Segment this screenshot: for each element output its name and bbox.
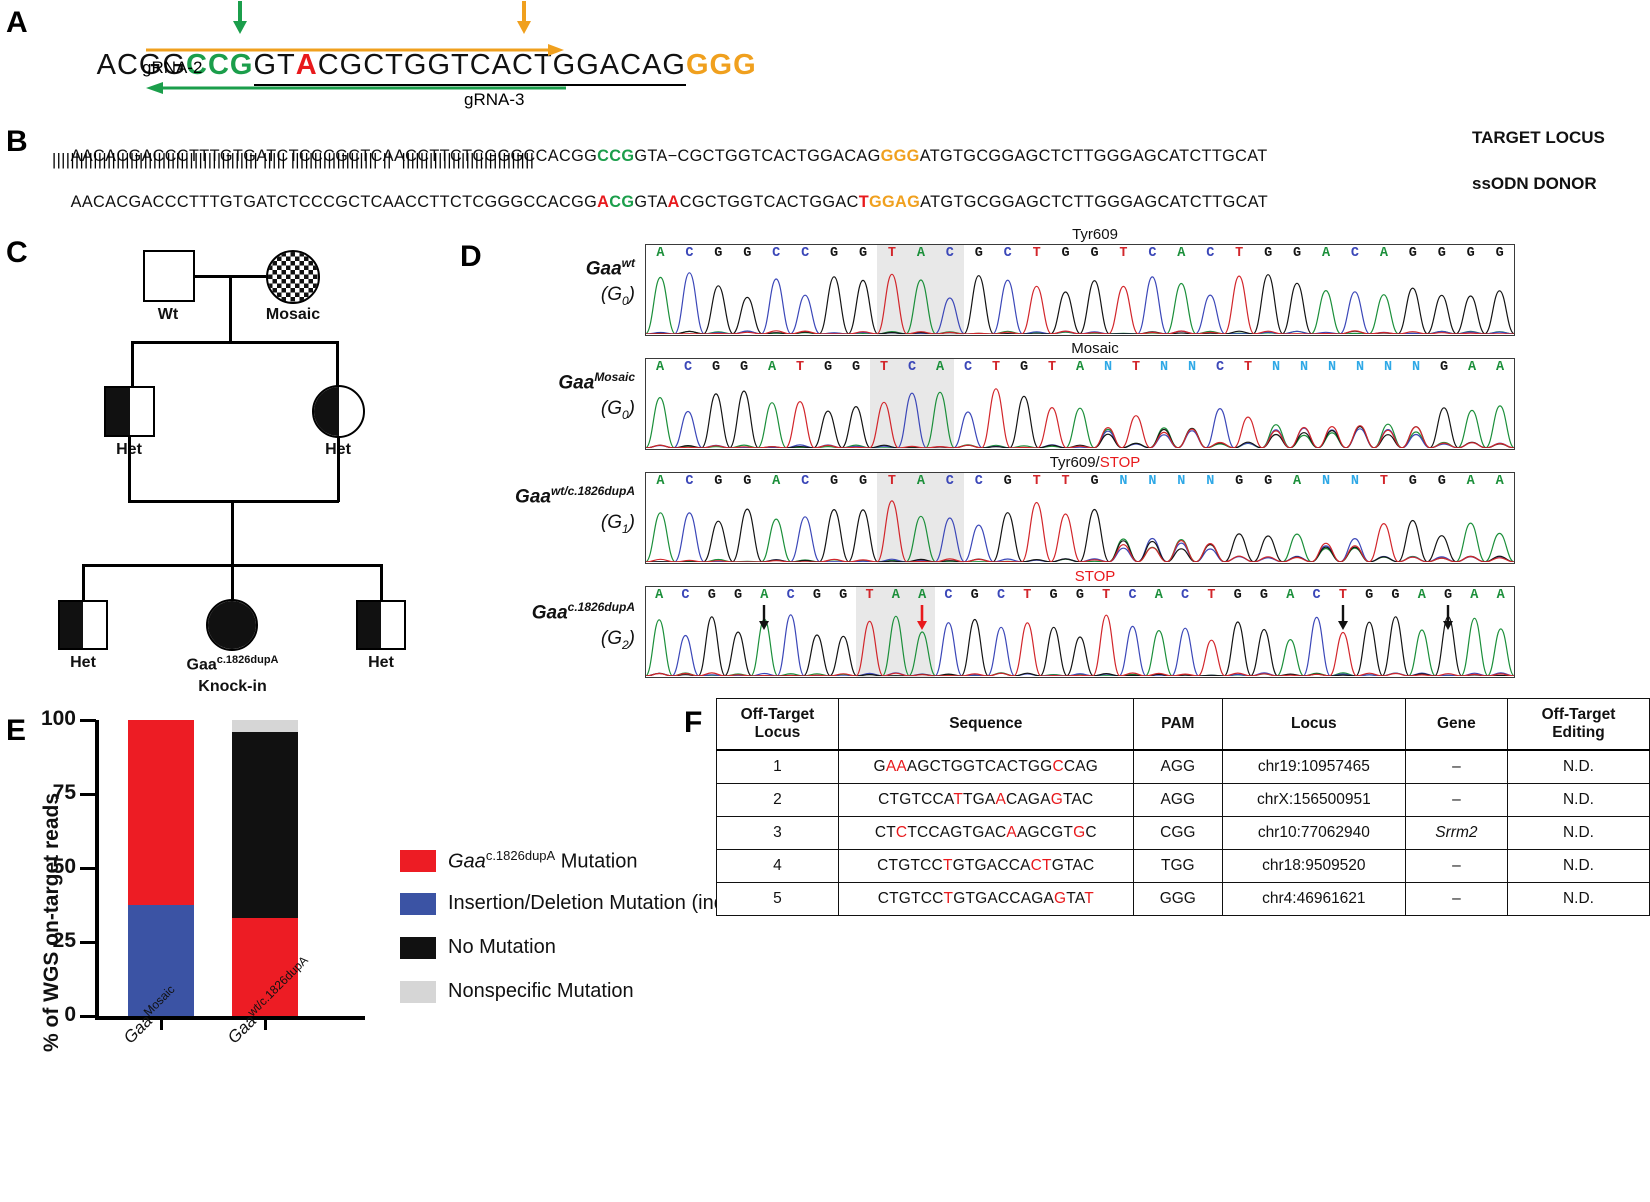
base-call-c: C xyxy=(672,588,698,605)
base-call-c: C xyxy=(1119,588,1145,605)
full-fill xyxy=(208,601,256,649)
cell-pam: GGG xyxy=(1133,882,1222,915)
base-call-c: C xyxy=(964,474,993,491)
stop-codon-arrow-red-icon xyxy=(916,605,928,631)
y-tick-label: 50 xyxy=(0,855,76,879)
sequence-mismatch: A xyxy=(1006,824,1017,841)
base-call-g: G xyxy=(1283,246,1312,263)
legend-swatch xyxy=(400,893,436,915)
header-line: PAM xyxy=(1140,715,1216,733)
base-call-n: N xyxy=(1402,360,1430,377)
chromatogram-label-gaa-mosaic: GaaMosaic xyxy=(460,370,635,394)
base-call-g: G xyxy=(1427,474,1456,491)
donor-part-a: A xyxy=(597,193,609,211)
base-call-g: G xyxy=(1040,588,1066,605)
base-call-t: T xyxy=(1014,588,1040,605)
cell-locus: chr19:10957465 xyxy=(1222,750,1405,784)
trace-channel-A xyxy=(646,277,1514,334)
base-call-a: A xyxy=(758,360,786,377)
base-call-g: G xyxy=(1356,588,1382,605)
base-call-g: G xyxy=(730,360,758,377)
panel-c-letter: C xyxy=(6,236,28,270)
off-target-table: Off-TargetLocus Sequence PAM Locus Gene … xyxy=(716,698,1650,916)
sequence-match: GTGACCA xyxy=(953,857,1031,874)
base-call-c: C xyxy=(1303,588,1329,605)
base-call-c: C xyxy=(993,246,1022,263)
pedigree-symbol-child-left-het xyxy=(58,600,108,650)
legend-label: Nonspecific Mutation xyxy=(448,980,634,1003)
generation-sub: 2 xyxy=(622,638,629,652)
table-row: 5CTGTCCTGTGACCAGAGTATGGGchr4:46961621–N.… xyxy=(717,882,1650,915)
sequence-mismatch: G xyxy=(1054,890,1066,907)
table-row: 3CTCTCCAGTGACAAGCGTGCCGGchr10:77062940Sr… xyxy=(717,816,1650,849)
cell-off-target-locus: 3 xyxy=(717,816,839,849)
sequence-mismatch: A xyxy=(995,791,1006,808)
header-line: Gene xyxy=(1412,715,1501,733)
base-call-c: C xyxy=(791,474,820,491)
base-call-a: A xyxy=(906,246,935,263)
descent-line-son xyxy=(128,437,131,502)
pedigree-symbol-son-het xyxy=(104,386,155,437)
base-call-n: N xyxy=(1346,360,1374,377)
base-call-g: G xyxy=(1251,588,1277,605)
base-call-n: N xyxy=(1374,360,1402,377)
sequence-mismatch: AA xyxy=(886,758,907,775)
donor-part-g2: G xyxy=(907,193,920,211)
base-call-g: G xyxy=(1080,246,1109,263)
pedigree-symbol-mother-mosaic xyxy=(266,250,320,304)
base-call-a: A xyxy=(1312,246,1341,263)
chromatogram-title-stop: STOP xyxy=(650,568,1540,585)
chromatogram-generation-gaa-wt-dupa: (G1) xyxy=(430,512,635,536)
base-call-g: G xyxy=(1254,246,1283,263)
sequence-mismatch: T xyxy=(1084,890,1094,907)
base-call-a: A xyxy=(646,588,672,605)
cell-off-target-locus: 4 xyxy=(717,849,839,882)
base-call-g: G xyxy=(704,246,733,263)
panel-b-letter: B xyxy=(6,125,28,159)
trace-channel-T xyxy=(646,274,1514,334)
base-call-n: N xyxy=(1138,474,1167,491)
chromatogram-base-calls: ACGGACGGTAACGCTGGTCACTGGACTGGAGAA xyxy=(646,588,1514,605)
target-part-3: GTA−CGCTGGTCACTGGACAG xyxy=(634,147,880,165)
descent-line-daughter xyxy=(337,437,340,502)
target-part-5: ATGTGCGGAGCTCTTGGGAGCATCTTGCAT xyxy=(920,147,1268,165)
sequence-match: G xyxy=(874,758,886,775)
cell-gene: – xyxy=(1405,783,1507,816)
panel-f-letter: F xyxy=(684,706,702,740)
donor-part-1: AACACGACCCTTTGTGATCTCCCGCTCAACCTTCTCGGGC… xyxy=(71,193,598,211)
base-call-a: A xyxy=(909,588,935,605)
base-call-g: G xyxy=(702,360,730,377)
title-stop-text: STOP xyxy=(1100,454,1141,471)
knockin-allele-sup: c.1826dupA xyxy=(217,654,279,666)
base-call-g: G xyxy=(849,474,878,491)
legend-item: Gaac.1826dupA Mutation xyxy=(400,848,637,874)
sequence-match: AGCGT xyxy=(1017,824,1073,841)
base-call-t: T xyxy=(1038,360,1066,377)
descent-line-g0 xyxy=(229,275,232,343)
chromatogram-plot-gaa-dupa: ACGGACGGTAACGCTGGTCACTGGACTGGAGAA xyxy=(645,586,1515,678)
col-header-gene: Gene xyxy=(1405,699,1507,750)
pedigree-symbol-child-right-het xyxy=(356,600,406,650)
base-call-g: G xyxy=(804,588,830,605)
bar-segment xyxy=(128,720,194,905)
legend-label: Gaac.1826dupA Mutation xyxy=(448,848,637,874)
donor-part-mid: CGCTGGTCACTGGAC xyxy=(680,193,859,211)
chromatogram-plot-gaa-wt: ACGGCCGGTACGCTGGTCACTGGACAGGGG xyxy=(645,244,1515,336)
cut-arrow-green-icon xyxy=(229,1,251,35)
base-call-t: T xyxy=(1122,360,1150,377)
trace-channel-G xyxy=(646,509,1514,562)
base-call-a: A xyxy=(1458,360,1486,377)
pedigree-label-father: Wt xyxy=(118,306,218,324)
trace-channel-A xyxy=(646,392,1514,448)
chromatogram-plot-gaa-mosaic: ACGGATGGTCACTGTANTNNCTNNNNNNGAA xyxy=(645,358,1515,450)
grna2-label: gRNA-2 xyxy=(142,58,202,78)
table-row: 1GAAAGCTGGTCACTGGCCAGAGGchr19:10957465–N… xyxy=(717,750,1650,784)
sequence-mismatch: T xyxy=(944,890,954,907)
chromatogram-base-calls: ACGGACGGTACCGTTGNNNNGGANNTGGAA xyxy=(646,474,1514,491)
cell-pam: AGG xyxy=(1133,783,1222,816)
base-call-t: T xyxy=(1109,246,1138,263)
table-row: 4CTGTCCTGTGACCACTGTACTGGchr18:9509520–N.… xyxy=(717,849,1650,882)
sequence-match: TGA xyxy=(963,791,995,808)
base-call-t: T xyxy=(1225,246,1254,263)
table-head: Off-TargetLocus Sequence PAM Locus Gene … xyxy=(717,699,1650,750)
chromatogram-generation-gaa-wt: (G0) xyxy=(475,284,635,308)
cell-off-target-locus: 1 xyxy=(717,750,839,784)
pedigree-label-child-left: Het xyxy=(33,654,133,672)
base-call-c: C xyxy=(1206,360,1234,377)
cell-sequence: CTGTCCTGTGACCACTGTAC xyxy=(838,849,1133,882)
cell-pam: CGG xyxy=(1133,816,1222,849)
base-call-t: T xyxy=(1022,474,1051,491)
base-call-a: A xyxy=(1167,246,1196,263)
y-tick-mark xyxy=(80,793,96,797)
pedigree-symbol-child-middle-knockin xyxy=(206,599,258,651)
base-call-g: G xyxy=(849,246,878,263)
base-call-g: G xyxy=(1427,246,1456,263)
chromatogram-label-gaa-wt: Gaawt xyxy=(475,256,635,280)
title-stop-text: STOP xyxy=(1075,568,1116,585)
base-call-c: C xyxy=(935,588,961,605)
base-call-g: G xyxy=(733,246,762,263)
trace-channel-A xyxy=(646,616,1514,676)
base-call-c: C xyxy=(1172,588,1198,605)
base-call-a: A xyxy=(1486,360,1514,377)
base-call-g: G xyxy=(1382,588,1408,605)
legend-allele-sup: c.1826dupA xyxy=(486,848,555,863)
legend-swatch xyxy=(400,850,436,872)
cut-arrow-orange-icon xyxy=(513,1,535,35)
base-call-t: T xyxy=(982,360,1010,377)
sequence-match: C xyxy=(1085,824,1096,841)
y-tick-mark xyxy=(80,941,96,945)
chromatogram-label-gaa-dupa: Gaac.1826dupA xyxy=(445,600,635,624)
cell-gene: Srrm2 xyxy=(1405,816,1507,849)
half-fill-left xyxy=(314,387,339,436)
base-call-a: A xyxy=(1409,588,1435,605)
grna2-arrow-icon xyxy=(146,44,566,58)
sequence-match: CTGTCC xyxy=(878,890,944,907)
legend-item: No Mutation xyxy=(400,936,556,959)
base-call-a: A xyxy=(646,360,674,377)
generation-sub: 1 xyxy=(622,522,629,536)
knockin-gene-name: Gaa xyxy=(187,656,217,673)
base-call-c: C xyxy=(675,246,704,263)
base-call-t: T xyxy=(786,360,814,377)
panel-c-pedigree: C Wt Mosaic Het Het Het Gaac.1826dupA Kn… xyxy=(0,228,460,668)
base-call-c: C xyxy=(674,360,702,377)
cell-locus: chr18:9509520 xyxy=(1222,849,1405,882)
base-call-a: A xyxy=(646,246,675,263)
sequence-match: GTGACCAGA xyxy=(953,890,1054,907)
base-call-g: G xyxy=(1080,474,1109,491)
target-part-pam: CCG xyxy=(597,147,634,165)
trace-channel-T xyxy=(646,389,1514,448)
sequence-match: TCCAGTGAC xyxy=(907,824,1006,841)
trace-allele-sup: wt xyxy=(622,256,635,270)
header-line: Locus xyxy=(723,724,832,742)
target-locus-label: TARGET LOCUS xyxy=(1472,128,1605,148)
bar-segment xyxy=(232,720,298,732)
panel-a: A ACGGCCGGTACGCTGGTCACTGGACAGGGG gRNA-2 … xyxy=(0,0,1650,118)
table-row: 2CTGTCCATTGAACAGAGTACAGGchrX:156500951–N… xyxy=(717,783,1650,816)
sequence-match: AGCTGGTCACTGG xyxy=(907,758,1053,775)
trace-channel-G xyxy=(646,275,1514,334)
sib-drop-mid-g2 xyxy=(231,564,234,602)
cell-off-target-editing: N.D. xyxy=(1507,882,1649,915)
col-header-off-target-locus: Off-TargetLocus xyxy=(717,699,839,750)
y-tick-mark xyxy=(80,867,96,871)
base-call-a: A xyxy=(906,474,935,491)
alignment-ticks: ||||||||||||||||||||||||||||||||||||||||… xyxy=(52,151,534,170)
base-call-n: N xyxy=(1196,474,1225,491)
base-call-g: G xyxy=(699,588,725,605)
half-fill-left xyxy=(106,388,130,435)
cell-sequence: CTGTCCTGTGACCAGAGTAT xyxy=(838,882,1133,915)
y-tick-label: 25 xyxy=(0,929,76,953)
legend-gene-name: Gaa xyxy=(448,851,486,873)
donor-part-dupa: A xyxy=(668,193,680,211)
base-call-g: G xyxy=(1430,360,1458,377)
chromatogram-base-calls: ACGGCCGGTACGCTGGTCACTGGACAGGGG xyxy=(646,246,1514,263)
trace-allele-sup: Mosaic xyxy=(594,370,635,384)
y-tick-label: 0 xyxy=(0,1003,76,1027)
base-call-c: C xyxy=(791,246,820,263)
base-call-t: T xyxy=(1198,588,1224,605)
cell-sequence: GAAAGCTGGTCACTGGCCAG xyxy=(838,750,1133,784)
trace-allele-sup: c.1826dupA xyxy=(568,600,635,614)
seq-part-pam-ggg: GGG xyxy=(686,49,757,81)
cell-sequence: CTGTCCATTGAACAGAGTAC xyxy=(838,783,1133,816)
base-call-a: A xyxy=(1283,474,1312,491)
sequence-match: CAGA xyxy=(1006,791,1051,808)
base-call-a: A xyxy=(1485,474,1514,491)
base-call-c: C xyxy=(935,474,964,491)
table-body: 1GAAAGCTGGTCACTGGCCAGAGGchr19:10957465–N… xyxy=(717,750,1650,916)
cell-locus: chrX:156500951 xyxy=(1222,783,1405,816)
trace-channel-G xyxy=(646,617,1514,676)
trace-gene-name: Gaa xyxy=(558,372,594,393)
base-call-g: G xyxy=(704,474,733,491)
title-text: Tyr609 xyxy=(1072,226,1118,243)
base-call-g: G xyxy=(1398,474,1427,491)
cell-sequence: CTCTCCAGTGACAAGCGTGC xyxy=(838,816,1133,849)
base-call-a: A xyxy=(762,474,791,491)
chromatogram-title-mosaic: Mosaic xyxy=(650,340,1540,357)
sibship-bar-g1 xyxy=(131,341,338,344)
ssodn-donor-sequence: AACACGACCCTTTGTGATCTCCCGCTCAACCTTCTCGGGC… xyxy=(52,174,1268,231)
sib-drop-left-g1 xyxy=(131,341,134,388)
sequence-match: TA xyxy=(1066,890,1084,907)
base-call-t: T xyxy=(878,246,907,263)
base-call-g: G xyxy=(830,588,856,605)
base-call-n: N xyxy=(1262,360,1290,377)
legend-swatch xyxy=(400,937,436,959)
y-tick-mark xyxy=(80,1015,96,1019)
base-call-t: T xyxy=(1093,588,1119,605)
trace-gene-name: Gaa xyxy=(532,602,568,623)
base-call-c: C xyxy=(762,246,791,263)
trace-channel-C xyxy=(646,615,1514,676)
base-call-g: G xyxy=(814,360,842,377)
mutation-arrow-black-icon xyxy=(1442,605,1454,631)
chromatogram-title-tyr609: Tyr609 xyxy=(650,226,1540,243)
cell-gene: – xyxy=(1405,849,1507,882)
bar-segment xyxy=(232,732,298,918)
base-call-a: A xyxy=(1146,588,1172,605)
base-call-c: C xyxy=(1341,246,1370,263)
base-call-g: G xyxy=(964,246,993,263)
pedigree-symbol-daughter-het xyxy=(312,385,365,438)
base-call-g: G xyxy=(1254,474,1283,491)
base-call-g: G xyxy=(1067,588,1093,605)
legend-swatch xyxy=(400,981,436,1003)
trace-gene-name: Gaa xyxy=(586,258,622,279)
sequence-mismatch: T xyxy=(943,857,953,874)
header-line: Locus xyxy=(1229,715,1399,733)
cell-off-target-editing: N.D. xyxy=(1507,750,1649,784)
base-call-t: T xyxy=(1022,246,1051,263)
title-text: Tyr609/ xyxy=(1050,454,1100,471)
chromatogram-base-calls: ACGGATGGTCACTGTANTNNCTNNNNNNGAA xyxy=(646,360,1514,377)
base-call-g: G xyxy=(842,360,870,377)
base-call-c: C xyxy=(1138,246,1167,263)
mating-line-g1 xyxy=(128,500,339,503)
base-call-a: A xyxy=(1456,474,1485,491)
base-call-g: G xyxy=(1398,246,1427,263)
base-call-g: G xyxy=(733,474,762,491)
chromatogram-trace-paths xyxy=(646,490,1514,562)
base-call-a: A xyxy=(1461,588,1487,605)
base-call-g: G xyxy=(962,588,988,605)
sequence-match: GTAC xyxy=(1052,857,1095,874)
base-call-g: G xyxy=(1010,360,1038,377)
header-line: Off-Target xyxy=(1514,706,1643,724)
base-call-t: T xyxy=(870,360,898,377)
panel-f-offtarget-table: F Off-TargetLocus Sequence PAM Locus Gen… xyxy=(690,690,1650,990)
cell-off-target-locus: 2 xyxy=(717,783,839,816)
pedigree-label-child-right: Het xyxy=(331,654,431,672)
base-call-t: T xyxy=(878,474,907,491)
donor-part-cg: CG xyxy=(609,193,634,211)
mutation-arrow-black-icon xyxy=(758,605,770,631)
sib-drop-right-g2 xyxy=(380,564,383,602)
chromatogram-plot-gaa-wt-dupa: ACGGACGGTACCGTTGNNNNGGANNTGGAA xyxy=(645,472,1515,564)
trace-gene-name: Gaa xyxy=(515,486,551,507)
pedigree-label-child-middle: Gaac.1826dupA xyxy=(150,654,315,674)
base-call-n: N xyxy=(1178,360,1206,377)
sequence-match: TAC xyxy=(1063,791,1093,808)
trace-allele-sup: wt/c.1826dupA xyxy=(551,484,635,498)
cell-off-target-editing: N.D. xyxy=(1507,783,1649,816)
panel-e-barchart: E % of WGS on-target reads 0255075100 Ga… xyxy=(0,680,660,1200)
base-call-a: A xyxy=(751,588,777,605)
base-call-n: N xyxy=(1167,474,1196,491)
base-call-c: C xyxy=(898,360,926,377)
base-call-t: T xyxy=(1330,588,1356,605)
legend-item: Nonspecific Mutation xyxy=(400,980,634,1003)
sequence-mismatch: G xyxy=(1051,791,1063,808)
base-call-g: G xyxy=(725,588,751,605)
descent-line-g1 xyxy=(231,500,234,566)
sequence-mismatch: C xyxy=(1052,758,1063,775)
base-call-n: N xyxy=(1341,474,1370,491)
base-call-n: N xyxy=(1312,474,1341,491)
cell-gene: – xyxy=(1405,882,1507,915)
base-call-a: A xyxy=(1277,588,1303,605)
chromatogram-trace-paths xyxy=(646,604,1514,676)
base-call-g: G xyxy=(1225,474,1254,491)
base-call-g: G xyxy=(993,474,1022,491)
chromatogram-generation-gaa-mosaic: (G0) xyxy=(460,398,635,422)
base-call-t: T xyxy=(1234,360,1262,377)
sequence-mismatch: C xyxy=(896,824,907,841)
sequence-match: CAG xyxy=(1064,758,1098,775)
donor-part-g1: G xyxy=(869,193,882,211)
table-header-row: Off-TargetLocus Sequence PAM Locus Gene … xyxy=(717,699,1650,750)
header-line: Editing xyxy=(1514,724,1643,742)
base-call-c: C xyxy=(777,588,803,605)
base-call-g: G xyxy=(1225,588,1251,605)
chromatogram-trace-paths xyxy=(646,376,1514,448)
cell-pam: TGG xyxy=(1133,849,1222,882)
base-call-t: T xyxy=(856,588,882,605)
trace-channel-C xyxy=(646,393,1514,448)
cell-pam: AGG xyxy=(1133,750,1222,784)
base-call-c: C xyxy=(675,474,704,491)
header-line: Off-Target xyxy=(723,706,832,724)
sequence-match: CT xyxy=(875,824,896,841)
donor-part-ga: GA xyxy=(882,193,907,211)
base-call-g: G xyxy=(820,246,849,263)
sequence-mismatch: G xyxy=(1073,824,1085,841)
legend-label: No Mutation xyxy=(448,936,556,959)
base-call-c: C xyxy=(988,588,1014,605)
cell-off-target-editing: N.D. xyxy=(1507,849,1649,882)
col-header-locus: Locus xyxy=(1222,699,1405,750)
cell-locus: chr4:46961621 xyxy=(1222,882,1405,915)
panel-b: B AACACGACCCTTTGTGATCTCCCGCTCAACCTTCTCGG… xyxy=(0,125,1650,220)
base-call-c: C xyxy=(954,360,982,377)
base-call-t: T xyxy=(1369,474,1398,491)
base-call-a: A xyxy=(883,588,909,605)
grna3-label: gRNA-3 xyxy=(464,90,524,110)
generation-sub: 0 xyxy=(622,408,629,422)
donor-part-t: T xyxy=(859,193,869,211)
